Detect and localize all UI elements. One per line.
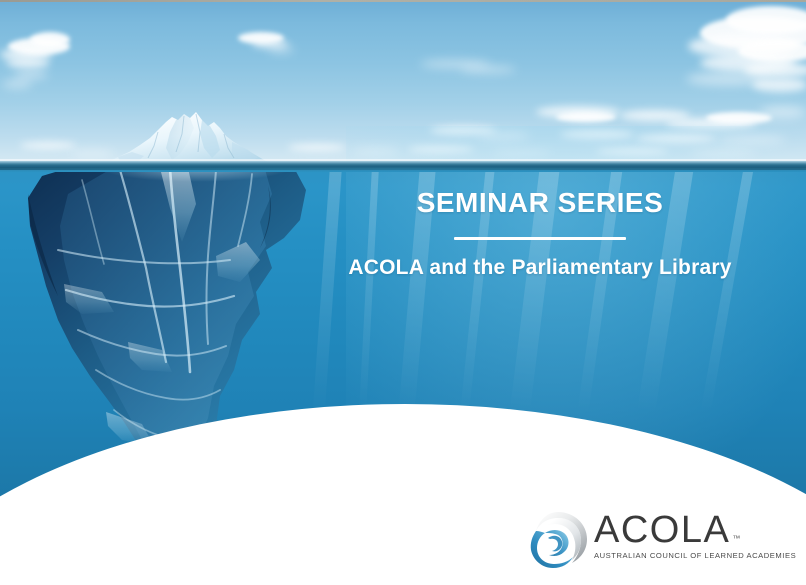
- cloud-icon: [752, 78, 806, 92]
- cloud-icon: [2, 80, 32, 88]
- title-block: SEMINAR SERIES ACOLA and the Parliamenta…: [300, 188, 780, 280]
- waterline-highlight: [0, 159, 806, 161]
- cloud-icon: [14, 70, 48, 79]
- acola-swirl-icon: [528, 510, 590, 570]
- trademark-symbol: ™: [732, 534, 740, 543]
- cloud-icon: [288, 144, 346, 151]
- page-title: SEMINAR SERIES: [300, 188, 780, 219]
- waterline-shadow: [0, 167, 806, 170]
- cloud-icon: [6, 58, 50, 68]
- waterline-band: [0, 160, 806, 172]
- acola-wordmark: ACOLA: [594, 512, 730, 548]
- top-border-rule: [0, 0, 806, 2]
- title-divider: [454, 237, 626, 240]
- cloud-icon: [760, 106, 806, 118]
- page-subtitle: ACOLA and the Parliamentary Library: [300, 256, 780, 280]
- cloud-icon: [556, 112, 616, 122]
- cloud-icon: [20, 142, 76, 149]
- title-slide: SEMINAR SERIES ACOLA and the Parliamenta…: [0, 0, 806, 585]
- acola-tagline: AUSTRALIAN COUNCIL OF LEARNED ACADEMIES: [594, 551, 796, 560]
- cloud-icon: [460, 66, 516, 73]
- cloud-icon: [726, 6, 806, 34]
- acola-logo-text: ACOLA ™ AUSTRALIAN COUNCIL OF LEARNED AC…: [594, 508, 796, 560]
- acola-logo: ACOLA ™ AUSTRALIAN COUNCIL OF LEARNED AC…: [528, 508, 778, 574]
- cloud-icon: [268, 46, 294, 53]
- cloud-icon: [30, 32, 70, 47]
